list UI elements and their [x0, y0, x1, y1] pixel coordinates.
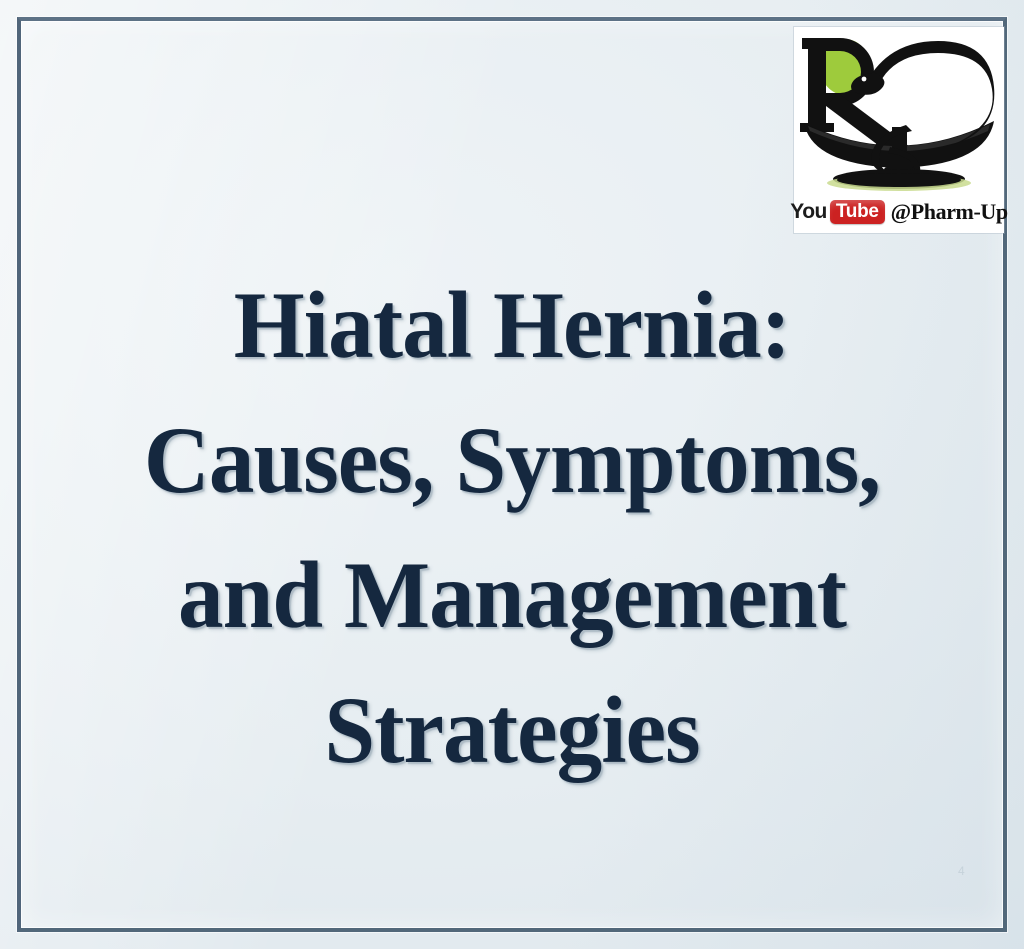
presentation-slide: You Tube @Pharm-Up Hiatal Hernia: Causes…	[0, 0, 1024, 949]
youtube-tube-badge: Tube	[830, 200, 885, 224]
title-line-2: Causes, Symptoms,	[59, 393, 965, 528]
title-line-1: Hiatal Hernia:	[59, 258, 965, 393]
channel-logo-plate[interactable]: You Tube @Pharm-Up	[794, 27, 1004, 233]
youtube-channel-label[interactable]: You Tube @Pharm-Up	[794, 195, 1004, 229]
title-line-3: and Management	[59, 528, 965, 663]
rx-bowl-of-hygieia-icon	[794, 27, 1004, 197]
title-line-4: Strategies	[59, 663, 965, 798]
youtube-handle-text: @Pharm-Up	[891, 199, 1008, 225]
youtube-you-text: You	[790, 200, 827, 224]
slide-title: Hiatal Hernia: Causes, Symptoms, and Man…	[40, 258, 984, 798]
slide-number: 4	[958, 864, 965, 878]
